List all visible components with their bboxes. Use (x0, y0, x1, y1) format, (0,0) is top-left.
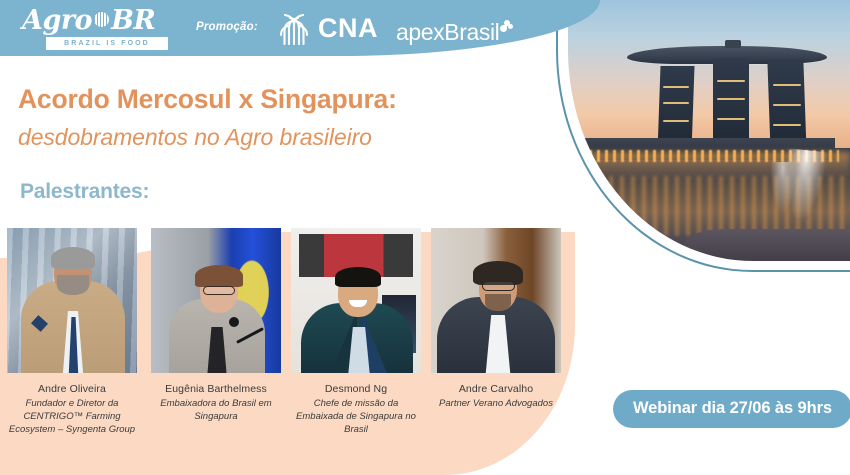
window-light (663, 102, 689, 104)
speaker-caption: Andre Carvalho Partner Verano Advogados (428, 383, 564, 410)
speaker-role: Embaixadora do Brasil em Singapura (152, 397, 280, 423)
window-light (773, 84, 801, 86)
speaker-caption: Desmond Ng Chefe de missão da Embaixada … (288, 383, 424, 436)
speaker-role: Fundador e Diretor da CENTRIGO™ Farming … (8, 397, 136, 436)
cna-wheat-icon (276, 11, 312, 45)
agrobr-tagline-bar: BRAZIL IS FOOD (46, 37, 168, 50)
window-light (773, 104, 801, 106)
promotional-banner: AgroBR BRAZIL IS FOOD Promoção: CNA (0, 0, 850, 475)
agrobr-logo-text-br: BR (111, 5, 155, 36)
globe-icon (94, 12, 109, 27)
cna-logo-text: CNA (318, 13, 378, 44)
agrobr-tagline: BRAZIL IS FOOD (64, 40, 150, 47)
window-light (717, 98, 745, 100)
deck-structure (725, 40, 741, 48)
speaker-caption: Andre Oliveira Fundador e Diretor da CEN… (4, 383, 140, 436)
speakers-list: Andre Oliveira Fundador e Diretor da CEN… (0, 228, 575, 475)
agrobr-logo[interactable]: AgroBR BRAZIL IS FOOD (22, 6, 172, 52)
marina-bay-sands-photo (565, 0, 850, 265)
page-title: Acordo Mercosul x Singapura: (18, 84, 397, 115)
avatar (291, 228, 421, 373)
webinar-date-badge[interactable]: Webinar dia 27/06 às 9hrs (613, 390, 850, 428)
agrobr-logo-script: AgroBR (22, 6, 172, 36)
window-light (773, 124, 801, 126)
avatar (431, 228, 561, 373)
sky-gradient (565, 0, 850, 148)
water-fountain-secondary (768, 162, 798, 222)
window-light (663, 120, 689, 122)
speaker-name: Desmond Ng (292, 383, 420, 396)
window-light (717, 118, 745, 120)
speaker-card[interactable]: Andre Carvalho Partner Verano Advogados (428, 228, 564, 410)
speaker-role: Chefe de missão da Embaixada de Singapur… (292, 397, 420, 436)
cna-logo[interactable]: CNA (276, 11, 378, 45)
speaker-name: Eugênia Barthelmess (152, 383, 280, 396)
speaker-name: Andre Carvalho (432, 383, 560, 396)
window-light (717, 80, 745, 82)
speaker-card[interactable]: Andre Oliveira Fundador e Diretor da CEN… (4, 228, 140, 436)
promo-label: Promoção: (196, 21, 258, 33)
speaker-card[interactable]: Desmond Ng Chefe de missão da Embaixada … (288, 228, 424, 436)
avatar (7, 228, 137, 373)
speakers-heading: Palestrantes: (20, 180, 149, 204)
speaker-card[interactable]: Eugênia Barthelmess Embaixadora do Brasi… (148, 228, 284, 423)
avatar (151, 228, 281, 373)
speaker-name: Andre Oliveira (8, 383, 136, 396)
singapore-hero-image (565, 0, 850, 265)
agrobr-logo-text-agro: Agro (22, 5, 92, 36)
rocky-shore (683, 229, 850, 265)
window-light (663, 86, 689, 88)
apexbrasil-logo[interactable]: apexBrasil (396, 19, 513, 46)
speaker-caption: Eugênia Barthelmess Embaixadora do Brasi… (148, 383, 284, 423)
apexbrasil-logo-text: apexBrasil (396, 19, 499, 45)
apex-dot-icon (500, 20, 513, 33)
page-subtitle: desdobramentos no Agro brasileiro (18, 124, 372, 151)
speaker-role: Partner Verano Advogados (432, 397, 560, 410)
